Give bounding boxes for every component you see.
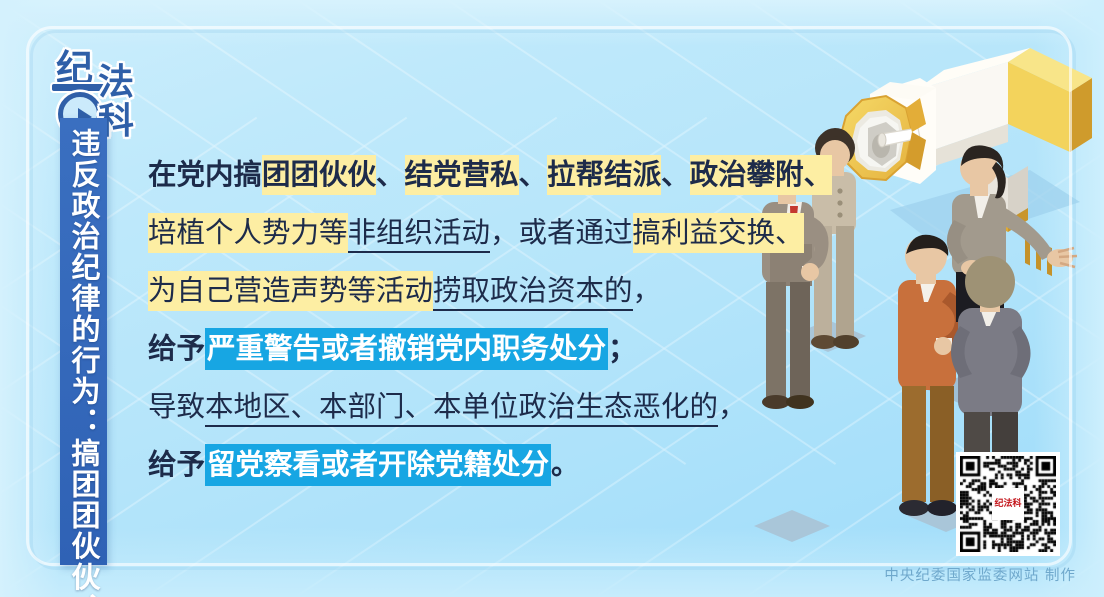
regulation-line: 导致本地区、本部门、本单位政治生态恶化的， (148, 378, 848, 436)
regulation-text-block: 在党内搞团团伙伙、结党营私、拉帮结派、政治攀附、培植个人势力等非组织活动，或者通… (148, 146, 848, 494)
text-segment-plain: ，或者通过 (490, 216, 633, 249)
qr-code-icon[interactable]: 纪法科 (956, 452, 1060, 556)
text-segment-plain: 导致 (148, 390, 205, 423)
text-segment-highlight-yellow: 团团伙伙 (262, 155, 376, 195)
regulation-line: 给予留党察看或者开除党籍处分。 (148, 436, 848, 494)
regulation-line: 给予严重警告或者撤销党内职务处分； (148, 320, 848, 378)
text-segment-highlight-yellow: 政治攀附、 (690, 155, 833, 195)
regulation-line: 为自己营造声势等活动捞取政治资本的， (148, 262, 848, 320)
text-segment-highlight-cyan: 留党察看或者开除党籍处分 (205, 444, 551, 486)
vertical-title-text: 违反政治纪律的行为：搞团团伙伙、拉帮结派 (60, 128, 107, 597)
text-segment-highlight-yellow: 搞利益交换、 (633, 213, 804, 253)
text-segment-highlight-cyan: 严重警告或者撤销党内职务处分 (205, 328, 608, 370)
text-segment-highlight-yellow: 培植个人势力等 (148, 213, 348, 253)
credit-text: 中央纪委国家监委网站 制作 (884, 564, 1076, 585)
text-segment-underline: 本地区、本部门、本单位政治生态恶化的 (205, 390, 718, 427)
text-segment-plain: 、 (661, 158, 690, 191)
poster-canvas: 纪 法 科 违反政治纪律的行为：搞团团伙伙、拉帮结派 在党内搞团团伙伙、结党营私… (0, 0, 1104, 597)
text-segment-plain: ； (608, 332, 637, 365)
regulation-line: 培植个人势力等非组织活动，或者通过搞利益交换、 (148, 204, 848, 262)
text-segment-underline: 捞取政治资本的 (433, 274, 633, 311)
text-segment-highlight-yellow: 结党营私 (405, 155, 519, 195)
regulation-line: 在党内搞团团伙伙、结党营私、拉帮结派、政治攀附、 (148, 146, 848, 204)
text-segment-plain: 。 (551, 448, 580, 481)
text-segment-plain: 、 (376, 158, 405, 191)
text-segment-underline: 非组织活动 (348, 216, 491, 253)
text-segment-plain: ， (633, 274, 662, 307)
qr-center-logo: 纪法科 (992, 488, 1024, 520)
text-segment-plain: 给予 (148, 332, 205, 365)
text-segment-plain: ， (718, 390, 747, 423)
text-segment-plain: 、 (519, 158, 548, 191)
text-segment-plain: 在党内搞 (148, 158, 262, 191)
text-segment-highlight-yellow: 拉帮结派 (547, 155, 661, 195)
text-segment-plain: 给予 (148, 448, 205, 481)
text-segment-highlight-yellow: 为自己营造声势等活动 (148, 271, 433, 311)
vertical-title-banner: 违反政治纪律的行为：搞团团伙伙、拉帮结派 (60, 118, 107, 565)
